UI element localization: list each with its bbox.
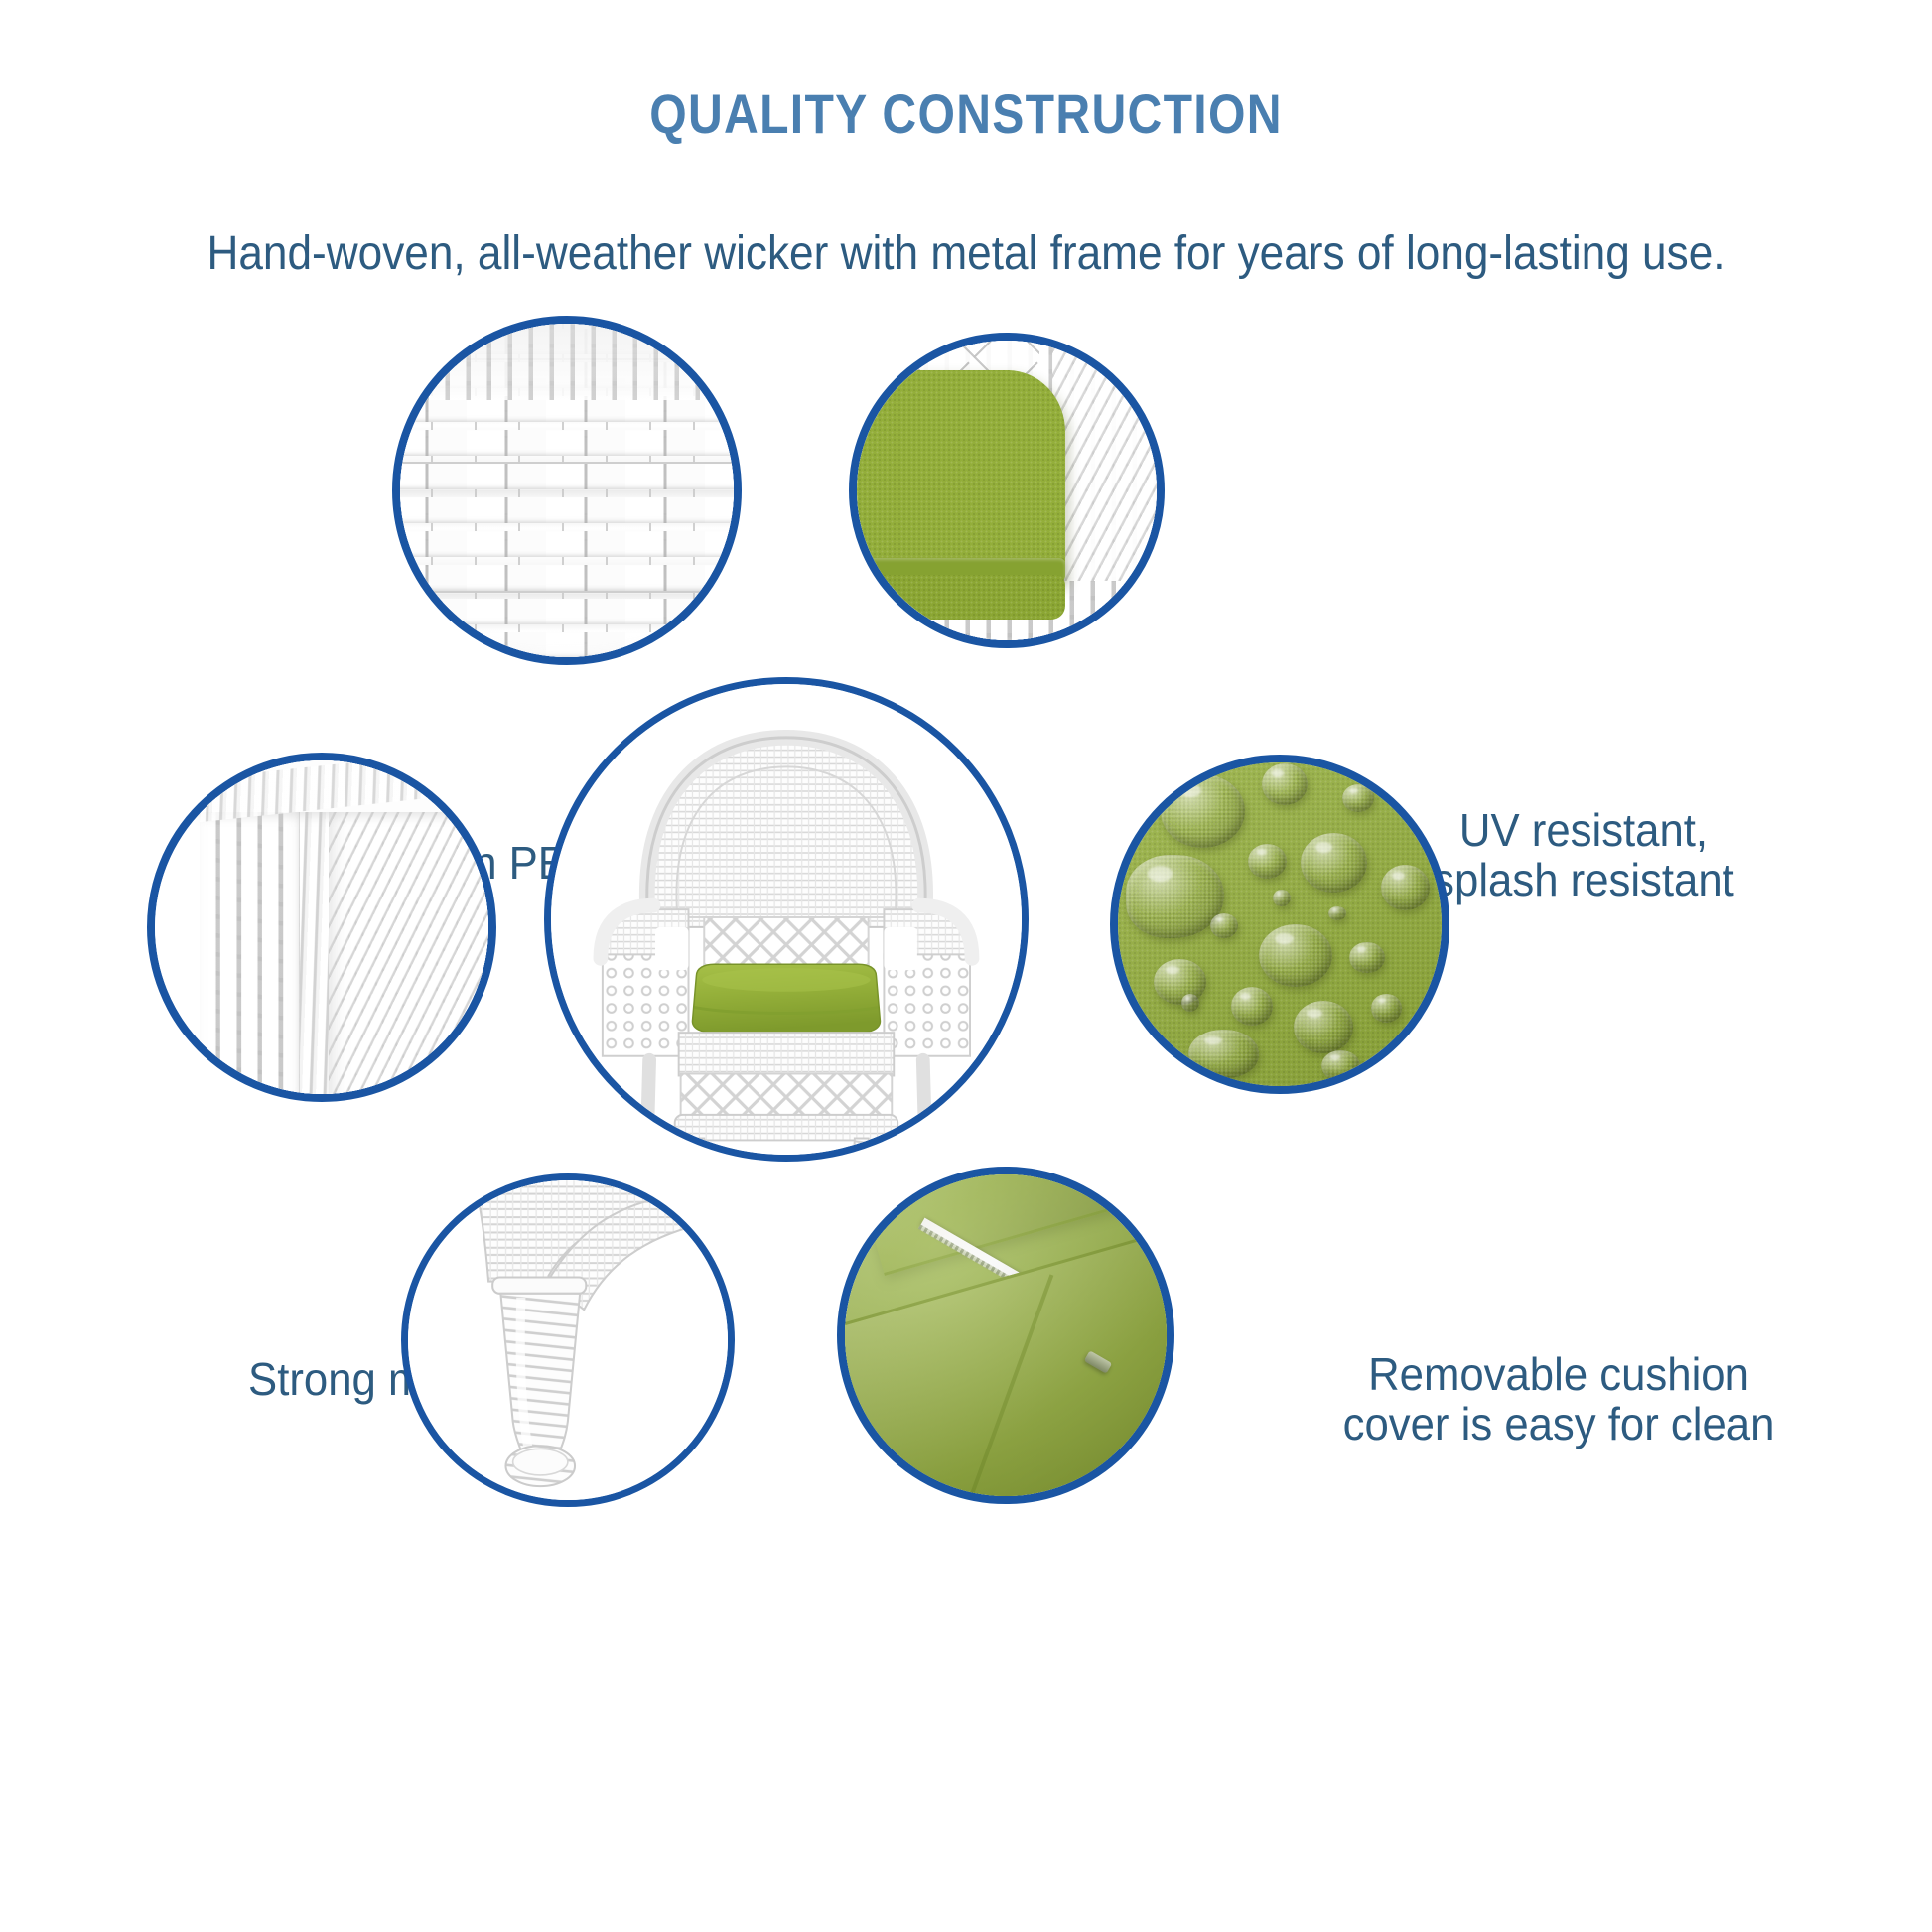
- infographic-page: QUALITY CONSTRUCTION Hand-woven, all-wea…: [0, 0, 1932, 1932]
- feature-circle-hand-woven-pe-rattan: [392, 316, 742, 665]
- wicker-leg-illustration: [401, 1173, 735, 1507]
- feature-circle-strong-metal-structure: [147, 753, 496, 1102]
- green-fabric-water-droplets-image: [1110, 755, 1449, 1094]
- feature-circle-cushion-zipper: [837, 1167, 1174, 1504]
- wicker-armchair-illustration: [544, 677, 1029, 1162]
- green-cushion-zipper-closeup-image: [837, 1167, 1174, 1504]
- white-wicker-weave-closeup-image: [392, 316, 742, 665]
- caption-removable-cushion-cover: Removable cushion cover is easy for clea…: [1323, 1350, 1795, 1449]
- feature-circle-removable-cushion-cover: [1110, 755, 1449, 1094]
- feature-circle-wicker-leg: [401, 1173, 735, 1507]
- cushion-back-panel: [849, 370, 1065, 584]
- page-title: QUALITY CONSTRUCTION: [135, 81, 1797, 146]
- page-subtitle: Hand-woven, all-weather wicker with meta…: [77, 226, 1855, 281]
- white-wicker-chair-leg-image: [401, 1173, 735, 1507]
- white-wicker-armchair-green-cushion-image: [544, 677, 1029, 1162]
- feature-circle-uv-splash-resistant: [849, 333, 1165, 648]
- green-cushion-back-closeup-image: [849, 333, 1165, 648]
- white-wicker-chair-corner-image: [147, 753, 496, 1102]
- feature-circle-chair-overview: [544, 677, 1029, 1162]
